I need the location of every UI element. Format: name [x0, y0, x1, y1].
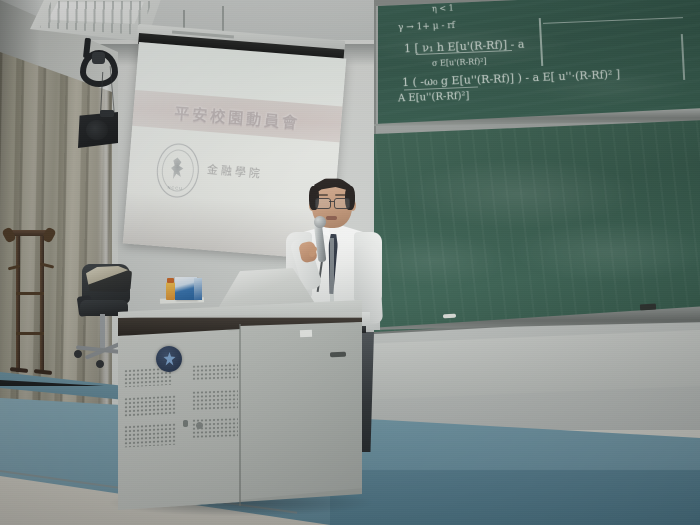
speaker-cone-icon — [86, 120, 108, 140]
coat-stand-post-left — [16, 236, 20, 372]
board-eraser[interactable] — [640, 304, 656, 311]
projection-screen: 平安校園動員會 NCCU 金融學院 — [123, 42, 347, 260]
podium-label-tag — [300, 330, 312, 337]
presenter-mouth — [326, 216, 337, 220]
presenter-eyebrow-left — [316, 194, 328, 196]
podium-corner-edge — [239, 324, 241, 506]
podium-vent-grille — [124, 395, 176, 418]
coat-stand-rail-lower — [16, 332, 44, 335]
podium-side-handle[interactable] — [330, 352, 346, 358]
office-chair-caster-3 — [96, 360, 104, 368]
coat-stand-post-right — [40, 236, 44, 372]
camera-lens-icon — [92, 52, 105, 64]
blue-box-side — [194, 278, 202, 300]
stage-riser — [330, 470, 700, 525]
coat-stand-rail-upper — [16, 292, 44, 295]
bottle-cap[interactable] — [167, 278, 174, 283]
podium-door-knob[interactable] — [196, 422, 203, 429]
orange-bottle[interactable] — [166, 282, 175, 300]
eyeglasses-lens-right-icon — [334, 198, 350, 209]
eyeglasses-bridge-icon — [329, 201, 334, 202]
podium-vent-grille — [192, 363, 238, 381]
blackboard-erased-smudges — [366, 118, 700, 334]
speaker-bracket — [100, 110, 114, 117]
lecture-hall-photo: 平安校園動員會 NCCU 金融學院 η < 1 γ → 1+ μ - rf 1 … — [0, 0, 700, 525]
podium-door-lock-icon[interactable] — [183, 420, 188, 427]
equation-line-1: η < 1 — [432, 4, 454, 14]
office-chair-caster — [74, 350, 82, 358]
office-chair-column — [100, 314, 105, 352]
chalk-stick[interactable] — [443, 314, 456, 319]
presenter-eyebrow-right — [335, 194, 347, 196]
screen-glare — [123, 42, 347, 260]
podium-vent-grille — [192, 389, 238, 411]
eyeglasses-lens-left-icon — [315, 198, 331, 209]
draped-jacket — [86, 266, 132, 292]
podium-vent-grille — [124, 423, 176, 448]
podium-side-panel — [240, 322, 362, 508]
